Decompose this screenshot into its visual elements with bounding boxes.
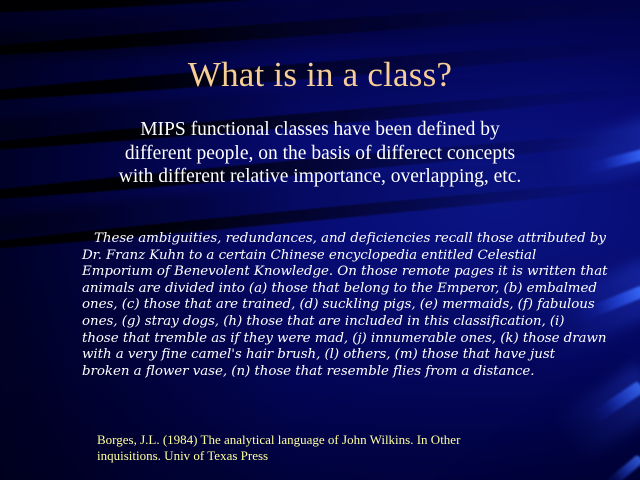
quote-line: those that tremble as if they were mad, … (82, 331, 594, 348)
presentation-slide: What is in a class? MIPS functional clas… (0, 0, 640, 480)
subtitle-line: different people, on the basis of differ… (60, 142, 580, 166)
quote-line: with a very fine camel's hair brush, (l)… (82, 347, 594, 364)
subtitle-line: with different relative importance, over… (60, 165, 580, 189)
slide-content: What is in a class? MIPS functional clas… (0, 0, 640, 480)
borges-quote-block: These ambiguities, redundances, and defi… (82, 231, 594, 380)
quote-line: animals are divided into (a) those that … (82, 281, 594, 298)
quote-line: These ambiguities, redundances, and defi… (82, 231, 594, 248)
citation-line: Borges, J.L. (1984) The analytical langu… (97, 432, 537, 448)
quote-line: Dr. Franz Kuhn to a certain Chinese ency… (82, 248, 594, 265)
citation-line: inquisitions. Univ of Texas Press (97, 448, 537, 464)
source-citation: Borges, J.L. (1984) The analytical langu… (97, 432, 537, 464)
slide-title: What is in a class? (0, 57, 640, 92)
quote-line: broken a flower vase, (n) those that res… (82, 364, 594, 381)
quote-line: ones, (g) stray dogs, (h) those that are… (82, 314, 594, 331)
quote-line: ones, (c) those that are trained, (d) su… (82, 297, 594, 314)
quote-line: Emporium of Benevolent Knowledge. On tho… (82, 264, 594, 281)
subtitle-line: MIPS functional classes have been define… (60, 118, 580, 142)
slide-subtitle: MIPS functional classes have been define… (60, 118, 580, 189)
